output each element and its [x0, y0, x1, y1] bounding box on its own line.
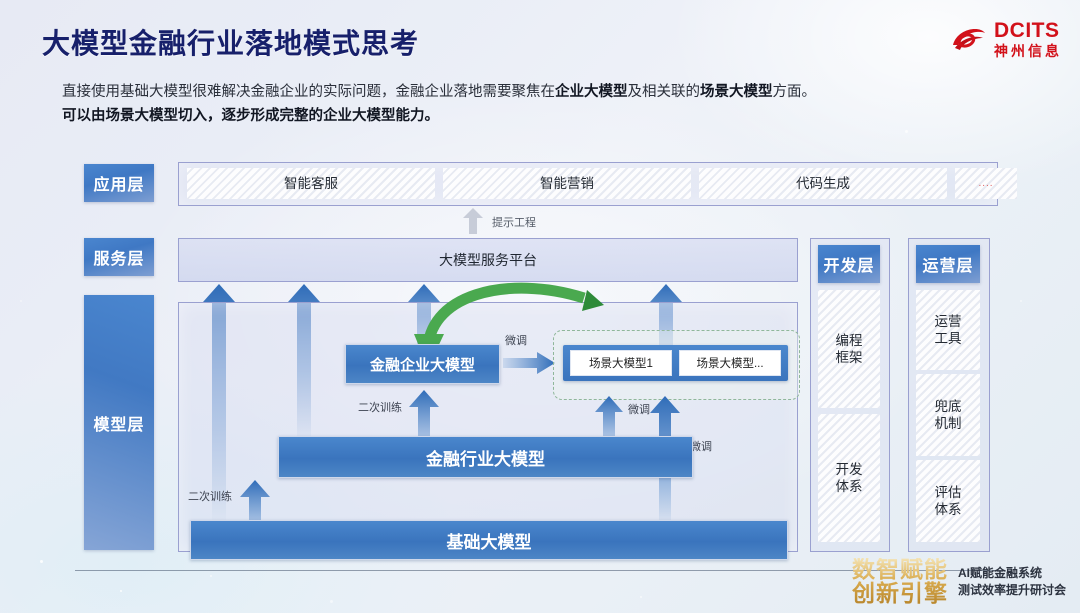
- layer-tag-dev: 开发层: [818, 245, 880, 283]
- label-retrain-enterprise: 二次训练: [358, 399, 402, 415]
- enterprise-model-label: 金融企业大模型: [370, 354, 475, 375]
- application-layer-panel: 智能客服 智能营销 代码生成 ....: [178, 162, 998, 206]
- watermark-gold-line-2: 创新引擎: [852, 582, 948, 605]
- label-finetune-industry-to-scene: 微调: [628, 401, 650, 417]
- scene-model-2-label: 场景大模型...: [696, 355, 763, 371]
- watermark-sub-line-1: AI赋能金融系统: [958, 565, 1066, 582]
- logo-cn-text: 神州信息: [994, 44, 1062, 58]
- app-cell-smart-service[interactable]: 智能客服: [187, 168, 435, 199]
- ops-cell-operation-tools[interactable]: 运营 工具: [916, 290, 980, 370]
- watermark-subtitle: AI赋能金融系统 测试效率提升研讨会: [958, 565, 1066, 599]
- scene-model-1-label: 场景大模型1: [589, 355, 653, 371]
- app-cell-smart-marketing-label: 智能营销: [540, 175, 594, 192]
- subtitle-part-2: 及相关联的: [628, 84, 701, 100]
- app-cell-smart-marketing[interactable]: 智能营销: [443, 168, 691, 199]
- app-cell-code-generation[interactable]: 代码生成: [699, 168, 947, 199]
- layer-tag-dev-label: 开发层: [823, 252, 874, 276]
- industry-model-box[interactable]: 金融行业大模型: [278, 436, 693, 478]
- layer-tag-model-label: 模型层: [93, 411, 144, 435]
- arrow-enterprise-to-scene: [503, 352, 555, 379]
- brand-logo: DCITS 神州信息: [949, 20, 1062, 58]
- ops-cell-fallback-mechanism-label: 兜底 机制: [935, 398, 962, 432]
- logo-en-text: DCITS: [994, 20, 1062, 41]
- subtitle-part-3: 方面。: [773, 84, 817, 100]
- dev-cell-dev-system[interactable]: 开发 体系: [818, 414, 880, 542]
- app-cell-code-generation-label: 代码生成: [796, 175, 850, 192]
- bg-speck: [640, 596, 642, 598]
- bg-speck: [905, 130, 908, 133]
- ops-cell-evaluation-system[interactable]: 评估 体系: [916, 460, 980, 542]
- app-cell-more-label: ....: [978, 175, 993, 192]
- bg-speck: [210, 575, 212, 577]
- industry-model-label: 金融行业大模型: [426, 445, 545, 470]
- architecture-diagram: 应用层 服务层 模型层 智能客服 智能营销 代码生成 .... 提示工程 大模型…: [0, 150, 1080, 570]
- page-subtitle: 直接使用基础大模型很难解决金融企业的实际问题，金融企业落地需要聚焦在企业大模型及…: [62, 80, 1022, 128]
- scene-model-cell-2[interactable]: 场景大模型...: [679, 350, 781, 376]
- enterprise-model-box[interactable]: 金融企业大模型: [345, 344, 500, 384]
- label-retrain-industry: 二次训练: [188, 488, 232, 504]
- event-watermark: 数智赋能 创新引擎 AI赋能金融系统 测试效率提升研讨会: [852, 558, 1066, 605]
- scene-model-cell-1[interactable]: 场景大模型1: [570, 350, 672, 376]
- scene-models-inner: 场景大模型1 场景大模型...: [563, 345, 788, 381]
- watermark-sub-line-2: 测试效率提升研讨会: [958, 582, 1066, 599]
- ops-cell-evaluation-system-label: 评估 体系: [935, 484, 962, 518]
- prompt-engineering-label: 提示工程: [492, 214, 536, 230]
- watermark-gold-line-1: 数智赋能: [852, 558, 948, 581]
- subtitle-emphasis-scene: 场景大模型: [700, 84, 773, 100]
- layer-tag-ops-label: 运营层: [922, 252, 973, 276]
- base-model-label: 基础大模型: [447, 528, 532, 553]
- label-finetune-base-to-scene: 微调: [690, 438, 712, 454]
- label-finetune-enterprise-to-scene: 微调: [505, 332, 527, 348]
- bg-speck: [120, 590, 122, 592]
- dev-cell-programming-framework[interactable]: 编程 框架: [818, 290, 880, 408]
- layer-tag-application-label: 应用层: [93, 171, 144, 195]
- dcits-swirl-icon: [949, 21, 987, 57]
- layer-tag-service: 服务层: [84, 238, 154, 276]
- prompt-engineering-arrow: [463, 208, 483, 239]
- layer-tag-ops: 运营层: [916, 245, 980, 283]
- layer-tag-application: 应用层: [84, 164, 154, 202]
- base-model-box[interactable]: 基础大模型: [190, 520, 788, 560]
- app-cell-more[interactable]: ....: [955, 168, 1017, 199]
- ops-cell-fallback-mechanism[interactable]: 兜底 机制: [916, 374, 980, 456]
- layer-tag-model: 模型层: [84, 295, 154, 550]
- logo-text: DCITS 神州信息: [994, 20, 1062, 58]
- subtitle-part-1: 直接使用基础大模型很难解决金融企业的实际问题，金融企业落地需要聚焦在: [62, 84, 555, 100]
- layer-tag-service-label: 服务层: [93, 245, 144, 269]
- page-title: 大模型金融行业落地模式思考: [42, 22, 419, 62]
- dev-cell-programming-framework-label: 编程 框架: [836, 332, 863, 366]
- bg-speck: [330, 600, 333, 603]
- watermark-gold-text: 数智赋能 创新引擎: [852, 558, 948, 605]
- subtitle-emphasis-enterprise: 企业大模型: [555, 84, 628, 100]
- dev-cell-dev-system-label: 开发 体系: [836, 461, 863, 495]
- service-platform-label: 大模型服务平台: [439, 250, 537, 270]
- ops-cell-operation-tools-label: 运营 工具: [935, 313, 962, 347]
- app-cell-smart-service-label: 智能客服: [284, 175, 338, 192]
- subtitle-line-2: 可以由场景大模型切入，逐步形成完整的企业大模型能力。: [62, 104, 1022, 128]
